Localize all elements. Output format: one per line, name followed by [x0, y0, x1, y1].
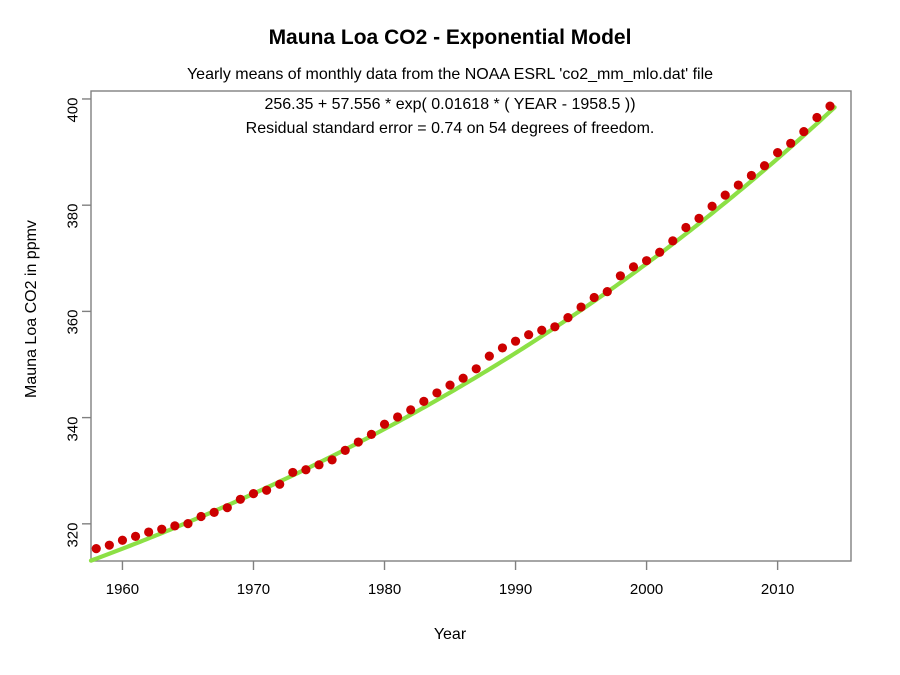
data-point	[681, 223, 690, 232]
data-point	[380, 420, 389, 429]
x-tick-label: 2000	[630, 581, 663, 598]
data-point	[629, 262, 638, 271]
y-tick-label: 320	[65, 522, 82, 594]
data-point	[721, 190, 730, 199]
data-point	[170, 521, 179, 530]
y-tick-label: 400	[65, 97, 82, 169]
x-tick-label: 1990	[499, 581, 532, 598]
data-point	[196, 512, 205, 521]
data-point	[354, 437, 363, 446]
residual-error-annotation: Residual standard error = 0.74 on 54 deg…	[0, 120, 900, 138]
data-point	[236, 495, 245, 504]
plot-frame	[91, 91, 851, 561]
data-point	[301, 465, 310, 474]
data-point	[616, 271, 625, 280]
data-point	[249, 489, 258, 498]
x-axis-label: Year	[0, 626, 900, 644]
data-point	[472, 364, 481, 373]
chart-subtitle: Yearly means of monthly data from the NO…	[0, 66, 900, 84]
data-point	[576, 302, 585, 311]
x-tick-label: 1980	[368, 581, 401, 598]
data-point	[786, 139, 795, 148]
data-point	[603, 287, 612, 296]
data-point	[445, 381, 454, 390]
data-point	[210, 508, 219, 517]
y-tick-label: 340	[65, 416, 82, 488]
data-point	[459, 374, 468, 383]
x-tick-label: 1970	[237, 581, 270, 598]
data-point	[432, 388, 441, 397]
data-point	[590, 293, 599, 302]
y-tick-label: 380	[65, 204, 82, 276]
data-point	[288, 468, 297, 477]
axis-ticks	[82, 99, 778, 570]
data-point	[406, 405, 415, 414]
fitted-exponential-curve	[91, 107, 835, 560]
data-points	[92, 102, 835, 554]
data-point	[485, 352, 494, 361]
data-point	[760, 161, 769, 170]
data-point	[92, 544, 101, 553]
data-point	[524, 330, 533, 339]
data-point	[314, 460, 323, 469]
data-point	[642, 256, 651, 265]
y-tick-label: 360	[65, 310, 82, 382]
data-point	[393, 412, 402, 421]
data-point	[341, 446, 350, 455]
data-point	[223, 503, 232, 512]
model-equation-annotation: 256.35 + 57.556 * exp( 0.01618 * ( YEAR …	[0, 96, 900, 114]
data-point	[328, 455, 337, 464]
y-axis-label: Mauna Loa CO2 in ppmv	[23, 179, 41, 439]
page-title: Mauna Loa CO2 - Exponential Model	[0, 26, 900, 50]
data-point	[144, 527, 153, 536]
data-point	[511, 337, 520, 346]
data-point	[157, 525, 166, 534]
data-point	[747, 171, 756, 180]
x-tick-label: 2010	[761, 581, 794, 598]
data-point	[655, 248, 664, 257]
data-point	[668, 236, 677, 245]
data-point	[118, 536, 127, 545]
data-point	[537, 326, 546, 335]
data-point	[563, 313, 572, 322]
data-point	[734, 180, 743, 189]
data-point	[708, 202, 717, 211]
data-point	[694, 214, 703, 223]
data-point	[498, 343, 507, 352]
chart-figure: Mauna Loa CO2 - Exponential Model Yearly…	[0, 0, 900, 675]
data-point	[550, 322, 559, 331]
data-point	[275, 480, 284, 489]
data-point	[131, 532, 140, 541]
data-point	[419, 397, 428, 406]
data-point	[262, 486, 271, 495]
data-point	[183, 519, 192, 528]
data-point	[367, 430, 376, 439]
data-point	[105, 541, 114, 550]
data-point	[773, 148, 782, 157]
x-tick-label: 1960	[106, 581, 139, 598]
